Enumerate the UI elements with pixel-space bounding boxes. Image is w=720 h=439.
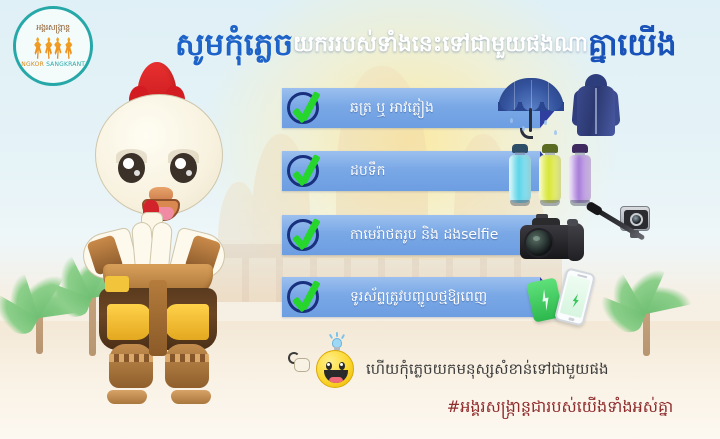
water-bottle-icon (538, 144, 562, 206)
item-2-icons (508, 140, 618, 210)
checkmark-icon (287, 155, 319, 187)
title-segment-2: យកររបស់ទាំងនេះទៅជាមួយផងណា (293, 34, 588, 56)
checklist-label-1: ឆត្រ ឬ អាវភ្លៀង (350, 88, 434, 128)
title-segment-3: គ្នាយើង (588, 30, 677, 61)
dslr-camera-icon (520, 218, 584, 264)
checklist-label-2: ដបទឹក (350, 151, 386, 191)
title-segment-1: សូមកុំភ្លេច (175, 30, 293, 61)
water-bottle-icon (568, 144, 592, 206)
checklist-label-3: កាមេរ៉ាថតរូប និង ដងselfie (350, 215, 498, 255)
rooster-head (95, 94, 223, 216)
checkmark-icon (287, 219, 319, 251)
checklist-row-3[interactable]: កាមេរ៉ាថតរូប និង ដងselfie (282, 215, 540, 255)
poster-canvas: អង្គរសង្រ្កាន្ត ANGKOR SANGKRANTA សូមកុំ… (0, 0, 720, 439)
smartphone-icon (554, 267, 596, 327)
poster-title: សូមកុំភ្លេច យកររបស់ទាំងនេះទៅជាមួយផងណា គ្… (175, 22, 715, 68)
bottom-caption: ហើយកុំភ្លេចយកមនុស្សសំខាន់ទៅជាមួយផង (288, 342, 708, 386)
raincoat-icon (574, 74, 618, 136)
checklist-row-2[interactable]: ដបទឹក (282, 151, 540, 191)
lightbulb-icon (330, 338, 344, 351)
item-3-icons (520, 206, 650, 276)
pointing-hand-icon (288, 352, 314, 374)
checkmark-icon (287, 281, 319, 313)
item-1-icons (492, 72, 622, 142)
checklist-arrow-bar (282, 151, 540, 191)
caption-text: ហើយកុំភ្លេចយកមនុស្សសំខាន់ទៅជាមួយផង (366, 350, 609, 388)
checkmark-icon (287, 92, 319, 124)
umbrella-icon (498, 78, 564, 138)
logo-name-primary: ANGKOR (17, 61, 44, 68)
water-bottle-icon (508, 144, 532, 206)
logo-dancer-figures (34, 33, 73, 59)
hashtag-text: #អង្គរសង្រ្កាន្តជារបស់យើងទាំងអស់គ្នា (410, 392, 710, 422)
rooster-eye-right (170, 153, 197, 183)
logo-khmer-text: អង្គរសង្រ្កាន្ត (36, 24, 70, 32)
action-camera-icon (616, 206, 650, 268)
item-4-icons (530, 268, 620, 338)
rooster-eye-left (118, 153, 145, 183)
smiley-face-icon (316, 350, 354, 388)
checklist-row-4[interactable]: ទូរស័ព្ទត្រូវបញ្ចូលថ្មឱ្យពេញ (282, 277, 540, 317)
checklist-label-4: ទូរស័ព្ទត្រូវបញ្ចូលថ្មឱ្យពេញ (350, 277, 487, 317)
rooster-mascot (55, 62, 255, 392)
